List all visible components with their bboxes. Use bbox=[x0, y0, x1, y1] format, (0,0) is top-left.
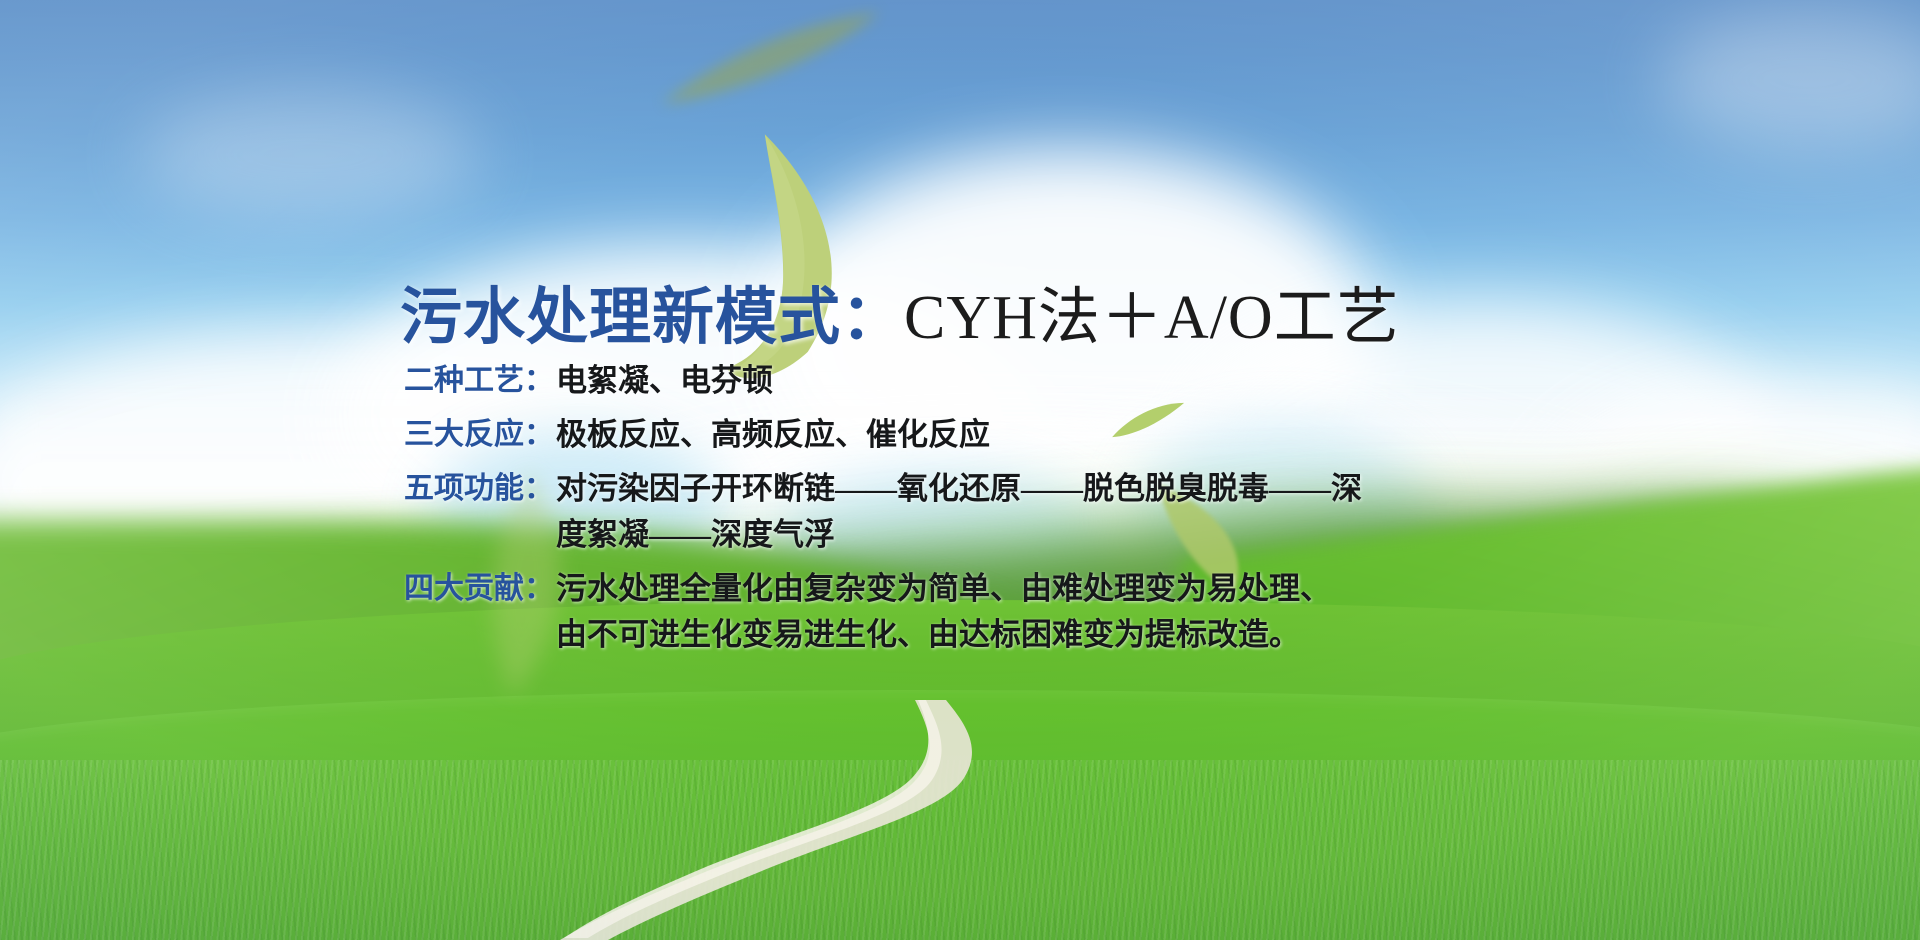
list-item-label: 三大反应： bbox=[404, 412, 556, 458]
slide-canvas: 污水处理新模式：CYH法＋A/O工艺 二种工艺： 电絮凝、电芬顿 三大反应： 极… bbox=[0, 0, 1920, 940]
falling-leaf-blurred-top-icon bbox=[656, 8, 886, 118]
list-item-value-line: 由不可进生化变易进生化、由达标困难变为提标改造。 bbox=[556, 612, 1331, 658]
list-item-value-line: 极板反应、高频反应、催化反应 bbox=[556, 417, 990, 452]
page-title: 污水处理新模式：CYH法＋A/O工艺 bbox=[400, 286, 1400, 351]
list-item-value-line: 电絮凝、电芬顿 bbox=[556, 363, 773, 398]
list-item-label: 四大贡献： bbox=[404, 566, 556, 612]
page-title-rest: CYH法＋A/O工艺 bbox=[904, 284, 1400, 352]
list-item-value: 电絮凝、电芬顿 bbox=[556, 358, 773, 404]
list-item-label: 二种工艺： bbox=[404, 358, 556, 404]
list-item: 五项功能： 对污染因子开环断链——氧化还原——脱色脱臭脱毒——深 度絮凝——深度… bbox=[404, 466, 1504, 558]
content-list: 二种工艺： 电絮凝、电芬顿 三大反应： 极板反应、高频反应、催化反应 五项功能：… bbox=[404, 358, 1504, 666]
falling-leaf-large-icon bbox=[709, 130, 886, 396]
list-item-value: 污水处理全量化由复杂变为简单、由难处理变为易处理、 由不可进生化变易进生化、由达… bbox=[556, 566, 1331, 658]
list-item-value-line: 污水处理全量化由复杂变为简单、由难处理变为易处理、 bbox=[556, 566, 1331, 612]
list-item-value-line: 对污染因子开环断链——氧化还原——脱色脱臭脱毒——深 bbox=[556, 466, 1362, 512]
page-title-highlight: 污水处理新模式： bbox=[400, 284, 904, 352]
cloud-wisp bbox=[140, 90, 480, 220]
list-item: 四大贡献： 污水处理全量化由复杂变为简单、由难处理变为易处理、 由不可进生化变易… bbox=[404, 566, 1504, 658]
list-item-value: 极板反应、高频反应、催化反应 bbox=[556, 412, 990, 458]
dirt-path bbox=[560, 700, 1200, 940]
list-item-value-line: 度絮凝——深度气浮 bbox=[556, 512, 1362, 558]
list-item-value: 对污染因子开环断链——氧化还原——脱色脱臭脱毒——深 度絮凝——深度气浮 bbox=[556, 466, 1362, 558]
list-item-label: 五项功能： bbox=[404, 466, 556, 512]
list-item: 二种工艺： 电絮凝、电芬顿 bbox=[404, 358, 1504, 404]
list-item: 三大反应： 极板反应、高频反应、催化反应 bbox=[404, 412, 1504, 458]
